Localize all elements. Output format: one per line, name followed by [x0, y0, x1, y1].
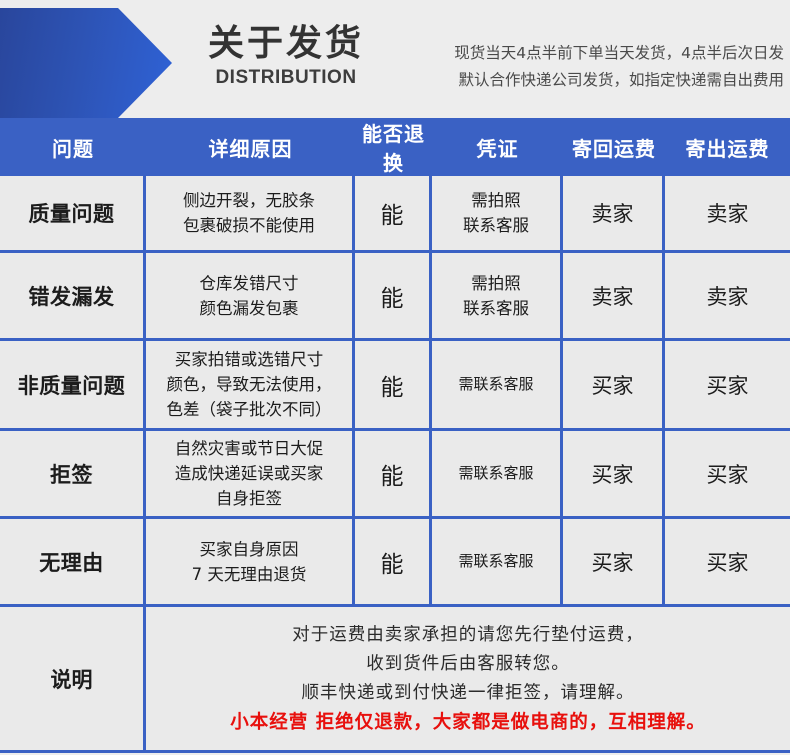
- column-header-ship-fee: 寄出运费: [665, 118, 790, 176]
- table-row: 错发漏发 仓库发错尺寸 颜色漏发包裹 能 需拍照 联系客服 卖家 卖家: [0, 253, 790, 341]
- note-label: 说明: [0, 607, 146, 753]
- cell-can-return: 能: [355, 519, 432, 607]
- cell-proof: 需拍照 联系客服: [432, 253, 563, 341]
- reason-line-1: 买家拍错或选错尺寸: [146, 347, 352, 372]
- cell-issue: 错发漏发: [0, 253, 146, 341]
- cell-ship-fee: 买家: [665, 341, 790, 431]
- cell-reason: 买家自身原因 7 天无理由退货: [146, 519, 355, 607]
- cell-can-return: 能: [355, 341, 432, 431]
- reason-line-3: 自身拒签: [146, 486, 352, 511]
- reason-line-1: 自然灾害或节日大促: [146, 436, 352, 461]
- chevron-arrow-icon: [0, 8, 172, 118]
- note-line-4-warning: 小本经营 拒绝仅退款，大家都是做电商的，互相理解。: [146, 708, 790, 737]
- cell-return-fee: 卖家: [563, 253, 665, 341]
- cell-issue: 无理由: [0, 519, 146, 607]
- policy-table: 问题 详细原因 能否退换 凭证 寄回运费 寄出运费 质量问题 侧边开裂，无胶条 …: [0, 118, 790, 753]
- cell-can-return: 能: [355, 176, 432, 253]
- reason-line-1: 买家自身原因: [146, 537, 352, 562]
- cell-ship-fee: 买家: [665, 519, 790, 607]
- shipping-policy-infographic: 关于发货 DISTRIBUTION 现货当天4点半前下单当天发货，4点半后次日发…: [0, 0, 790, 755]
- header-description-line-1: 现货当天4点半前下单当天发货，4点半后次日发: [392, 40, 784, 67]
- note-line-2: 收到货件后由客服转您。: [146, 650, 790, 679]
- proof-line-1: 需拍照: [432, 271, 560, 296]
- column-header-can-return: 能否退换: [355, 118, 432, 176]
- column-header-issue: 问题: [0, 118, 146, 176]
- cell-return-fee: 买家: [563, 431, 665, 519]
- column-header-return-fee: 寄回运费: [563, 118, 665, 176]
- reason-line-1: 仓库发错尺寸: [146, 271, 352, 296]
- cell-ship-fee: 买家: [665, 431, 790, 519]
- note-line-1: 对于运费由卖家承担的请您先行垫付运费，: [146, 621, 790, 650]
- proof-line-2: 联系客服: [432, 296, 560, 321]
- proof-line-1: 需联系客服: [432, 549, 560, 574]
- cell-proof: 需联系客服: [432, 519, 563, 607]
- cell-return-fee: 买家: [563, 519, 665, 607]
- header-title-block: 关于发货 DISTRIBUTION: [196, 24, 376, 90]
- cell-issue: 非质量问题: [0, 341, 146, 431]
- reason-line-1: 侧边开裂，无胶条: [146, 188, 352, 213]
- cell-reason: 买家拍错或选错尺寸 颜色，导致无法使用， 色差（袋子批次不同）: [146, 341, 355, 431]
- cell-return-fee: 卖家: [563, 176, 665, 253]
- cell-proof: 需联系客服: [432, 431, 563, 519]
- reason-line-3: 色差（袋子批次不同）: [146, 397, 352, 422]
- table-header-row: 问题 详细原因 能否退换 凭证 寄回运费 寄出运费: [0, 118, 790, 176]
- proof-line-1: 需联系客服: [432, 461, 560, 486]
- table-row: 无理由 买家自身原因 7 天无理由退货 能 需联系客服 买家 买家: [0, 519, 790, 607]
- proof-line-1: 需联系客服: [432, 372, 560, 397]
- column-header-proof: 凭证: [432, 118, 563, 176]
- proof-line-2: 联系客服: [432, 213, 560, 238]
- reason-line-2: 颜色，导致无法使用，: [146, 372, 352, 397]
- proof-line-1: 需拍照: [432, 188, 560, 213]
- cell-ship-fee: 卖家: [665, 253, 790, 341]
- note-body: 对于运费由卖家承担的请您先行垫付运费， 收到货件后由客服转您。 顺丰快递或到付快…: [146, 607, 790, 753]
- table-row: 质量问题 侧边开裂，无胶条 包裹破损不能使用 能 需拍照 联系客服 卖家 卖家: [0, 176, 790, 253]
- cell-issue: 拒签: [0, 431, 146, 519]
- note-row: 说明 对于运费由卖家承担的请您先行垫付运费， 收到货件后由客服转您。 顺丰快递或…: [0, 607, 790, 753]
- cell-issue: 质量问题: [0, 176, 146, 253]
- cell-reason: 仓库发错尺寸 颜色漏发包裹: [146, 253, 355, 341]
- reason-line-2: 造成快递延误或买家: [146, 461, 352, 486]
- header-banner: 关于发货 DISTRIBUTION 现货当天4点半前下单当天发货，4点半后次日发…: [0, 0, 790, 118]
- cell-proof: 需拍照 联系客服: [432, 176, 563, 253]
- table-row: 非质量问题 买家拍错或选错尺寸 颜色，导致无法使用， 色差（袋子批次不同） 能 …: [0, 341, 790, 431]
- header-description: 现货当天4点半前下单当天发货，4点半后次日发 默认合作快递公司发货，如指定快递需…: [392, 40, 784, 94]
- cell-can-return: 能: [355, 431, 432, 519]
- reason-line-2: 颜色漏发包裹: [146, 296, 352, 321]
- cell-can-return: 能: [355, 253, 432, 341]
- reason-line-2: 包裹破损不能使用: [146, 213, 352, 238]
- cell-reason: 自然灾害或节日大促 造成快递延误或买家 自身拒签: [146, 431, 355, 519]
- column-header-reason: 详细原因: [146, 118, 355, 176]
- cell-ship-fee: 卖家: [665, 176, 790, 253]
- page-subtitle: DISTRIBUTION: [196, 66, 376, 90]
- reason-line-2: 7 天无理由退货: [146, 562, 352, 587]
- table-row: 拒签 自然灾害或节日大促 造成快递延误或买家 自身拒签 能 需联系客服 买家 买…: [0, 431, 790, 519]
- cell-return-fee: 买家: [563, 341, 665, 431]
- note-line-3: 顺丰快递或到付快递一律拒签，请理解。: [146, 679, 790, 708]
- cell-proof: 需联系客服: [432, 341, 563, 431]
- header-description-line-2: 默认合作快递公司发货，如指定快递需自出费用: [392, 67, 784, 94]
- page-title: 关于发货: [196, 24, 376, 64]
- cell-reason: 侧边开裂，无胶条 包裹破损不能使用: [146, 176, 355, 253]
